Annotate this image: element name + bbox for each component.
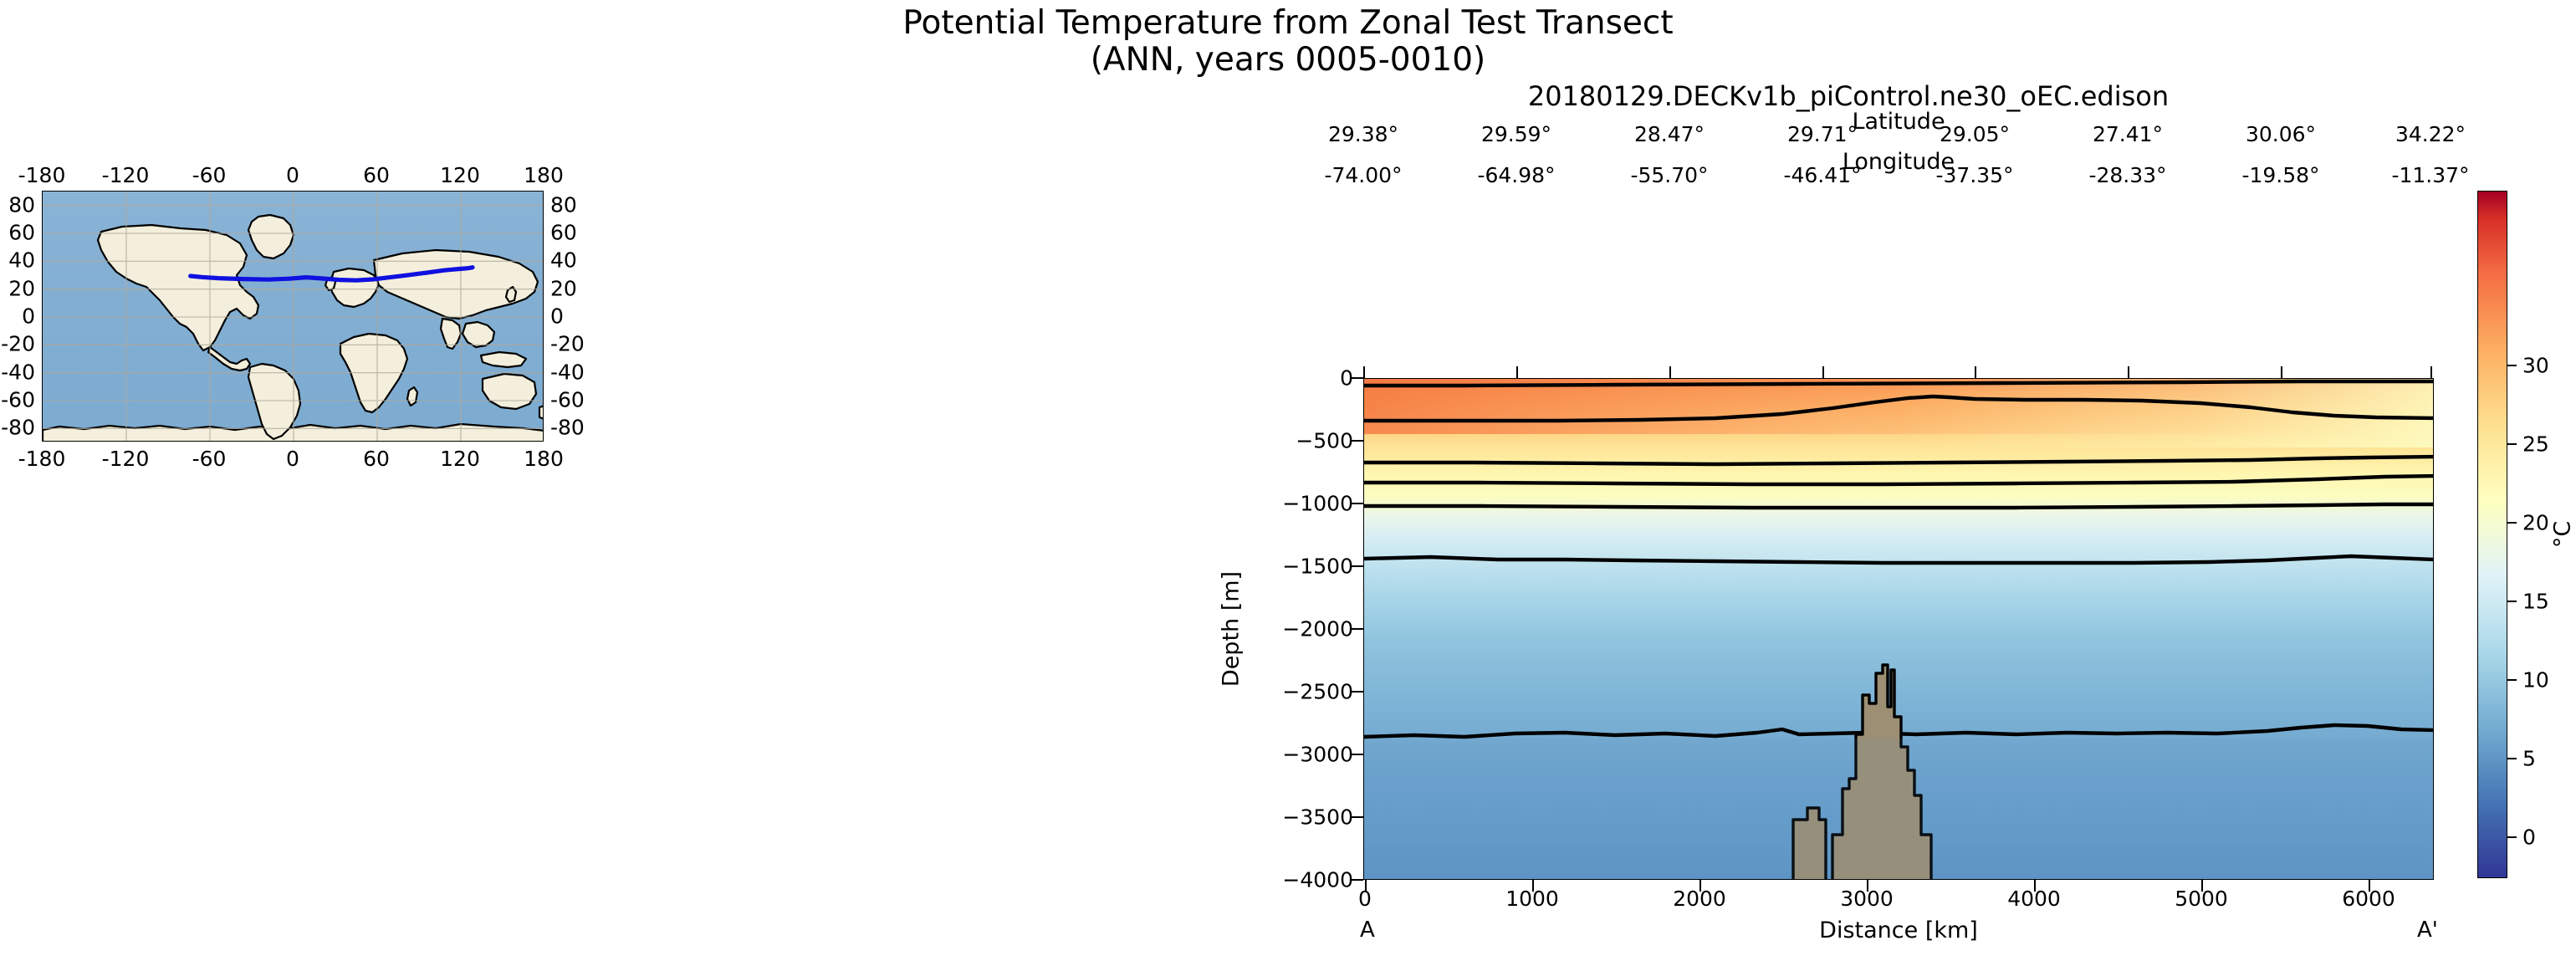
map-ytick-left-2: 40: [8, 248, 35, 273]
transect-start-endpoint-label: A: [1360, 918, 1375, 943]
map-xtick-top-4: 60: [363, 163, 390, 187]
lat-tick-2: 28.47°: [1634, 122, 1705, 146]
lat-tick-4: 29.05°: [1940, 122, 2010, 146]
depth-tick-4: −2000: [1282, 617, 1353, 642]
map-xtick-top-5: 120: [440, 163, 480, 187]
map-xtick-bot-1: -120: [102, 447, 150, 471]
depth-tick-6: −3000: [1282, 743, 1353, 767]
map-ytick-left-3: 20: [8, 276, 35, 300]
figure-canvas: Potential Temperature from Zonal Test Tr…: [0, 0, 2576, 961]
map-ytick-left-7: -60: [1, 388, 35, 412]
map-ytick-right-0: 80: [550, 192, 577, 217]
lon-tick-5: -28.33°: [2088, 163, 2166, 187]
depth-axis-label: Depth [m]: [1219, 571, 1245, 687]
map-ytick-left-1: 60: [8, 221, 35, 245]
map-xtick-bot-3: 0: [286, 447, 299, 471]
colorbar-tick-5: 5: [2522, 747, 2536, 771]
lon-tick-2: -55.70°: [1630, 163, 1708, 187]
map-ytick-right-5: -20: [550, 332, 585, 356]
map-ytick-right-6: -40: [550, 360, 585, 384]
world-map-graphic: [43, 192, 544, 442]
map-ytick-right-8: -80: [550, 416, 585, 440]
map-ytick-left-4: 0: [22, 304, 35, 329]
lon-tick-7: -11.37°: [2391, 163, 2469, 187]
lat-tick-6: 30.06°: [2246, 122, 2316, 146]
map-xtick-top-2: -60: [192, 163, 227, 187]
map-xtick-bot-4: 60: [363, 447, 390, 471]
colorbar-tick-15: 15: [2522, 590, 2549, 614]
surface-warm-east: [1899, 379, 2434, 447]
map-xtick-bot-2: -60: [192, 447, 227, 471]
figure-suptitle: Potential Temperature from Zonal Test Tr…: [0, 5, 2576, 79]
map-xtick-top-0: -180: [18, 163, 66, 187]
map-ytick-left-0: 80: [8, 192, 35, 217]
depth-tick-7: −3500: [1282, 805, 1353, 830]
lat-tick-3: 29.71°: [1787, 122, 1858, 146]
map-ytick-right-7: -60: [550, 388, 585, 412]
transect-cross-section-axes: [1363, 378, 2434, 880]
suptitle-line-2: (ANN, years 0005-0010): [0, 42, 2576, 79]
lat-tick-5: 27.41°: [2093, 122, 2163, 146]
depth-tick-8: −4000: [1282, 868, 1353, 892]
map-xtick-bot-0: -180: [18, 447, 66, 471]
lon-tick-1: -64.98°: [1477, 163, 1555, 187]
colorbar-tick-25: 25: [2522, 432, 2549, 457]
depth-tick-5: −2500: [1282, 680, 1353, 704]
transect-end-endpoint-label: A': [2417, 918, 2438, 943]
map-xtick-top-6: 180: [524, 163, 564, 187]
depth-tick-1: −500: [1296, 429, 1353, 453]
lat-tick-7: 34.22°: [2395, 122, 2466, 146]
world-map-axes: [42, 191, 544, 442]
map-xtick-bot-5: 120: [440, 447, 480, 471]
lon-tick-6: -19.58°: [2241, 163, 2319, 187]
lon-tick-3: -46.41°: [1783, 163, 1861, 187]
lon-tick-4: -37.35°: [1935, 163, 2013, 187]
map-xtick-bot-6: 180: [524, 447, 564, 471]
transect-contour-graphic: [1364, 379, 2434, 880]
colorbar-tick-0: 0: [2522, 826, 2536, 850]
map-ytick-left-6: -40: [1, 360, 35, 384]
colorbar-unit-label: °C: [2550, 521, 2576, 548]
transect-start-marker: [189, 274, 192, 278]
colorbar-tick-10: 10: [2522, 668, 2549, 693]
suptitle-line-1: Potential Temperature from Zonal Test Tr…: [902, 4, 1673, 42]
map-ytick-left-8: -80: [1, 416, 35, 440]
colorbar-tick-30: 30: [2522, 354, 2549, 378]
colorbar-tick-20: 20: [2522, 511, 2549, 535]
map-ytick-left-5: -20: [1, 332, 35, 356]
distance-axis-label: Distance [km]: [1363, 918, 2434, 943]
map-ytick-right-3: 20: [550, 276, 577, 300]
map-xtick-top-1: -120: [102, 163, 150, 187]
map-ytick-right-1: 60: [550, 221, 577, 245]
depth-tick-2: −1000: [1282, 492, 1353, 516]
map-xtick-top-3: 0: [286, 163, 299, 187]
map-ytick-right-4: 0: [550, 304, 564, 329]
temperature-colorbar: [2477, 191, 2507, 878]
transect-panel-title: 20180129.DECKv1b_piControl.ne30_oEC.edis…: [1196, 80, 2501, 112]
deep-water-tint: [1364, 739, 2434, 880]
lat-tick-1: 29.59°: [1481, 122, 1551, 146]
lat-tick-0: 29.38°: [1328, 122, 1398, 146]
depth-tick-3: −1500: [1282, 555, 1353, 579]
map-ytick-right-2: 40: [550, 248, 577, 273]
lon-tick-0: -74.00°: [1324, 163, 1402, 187]
